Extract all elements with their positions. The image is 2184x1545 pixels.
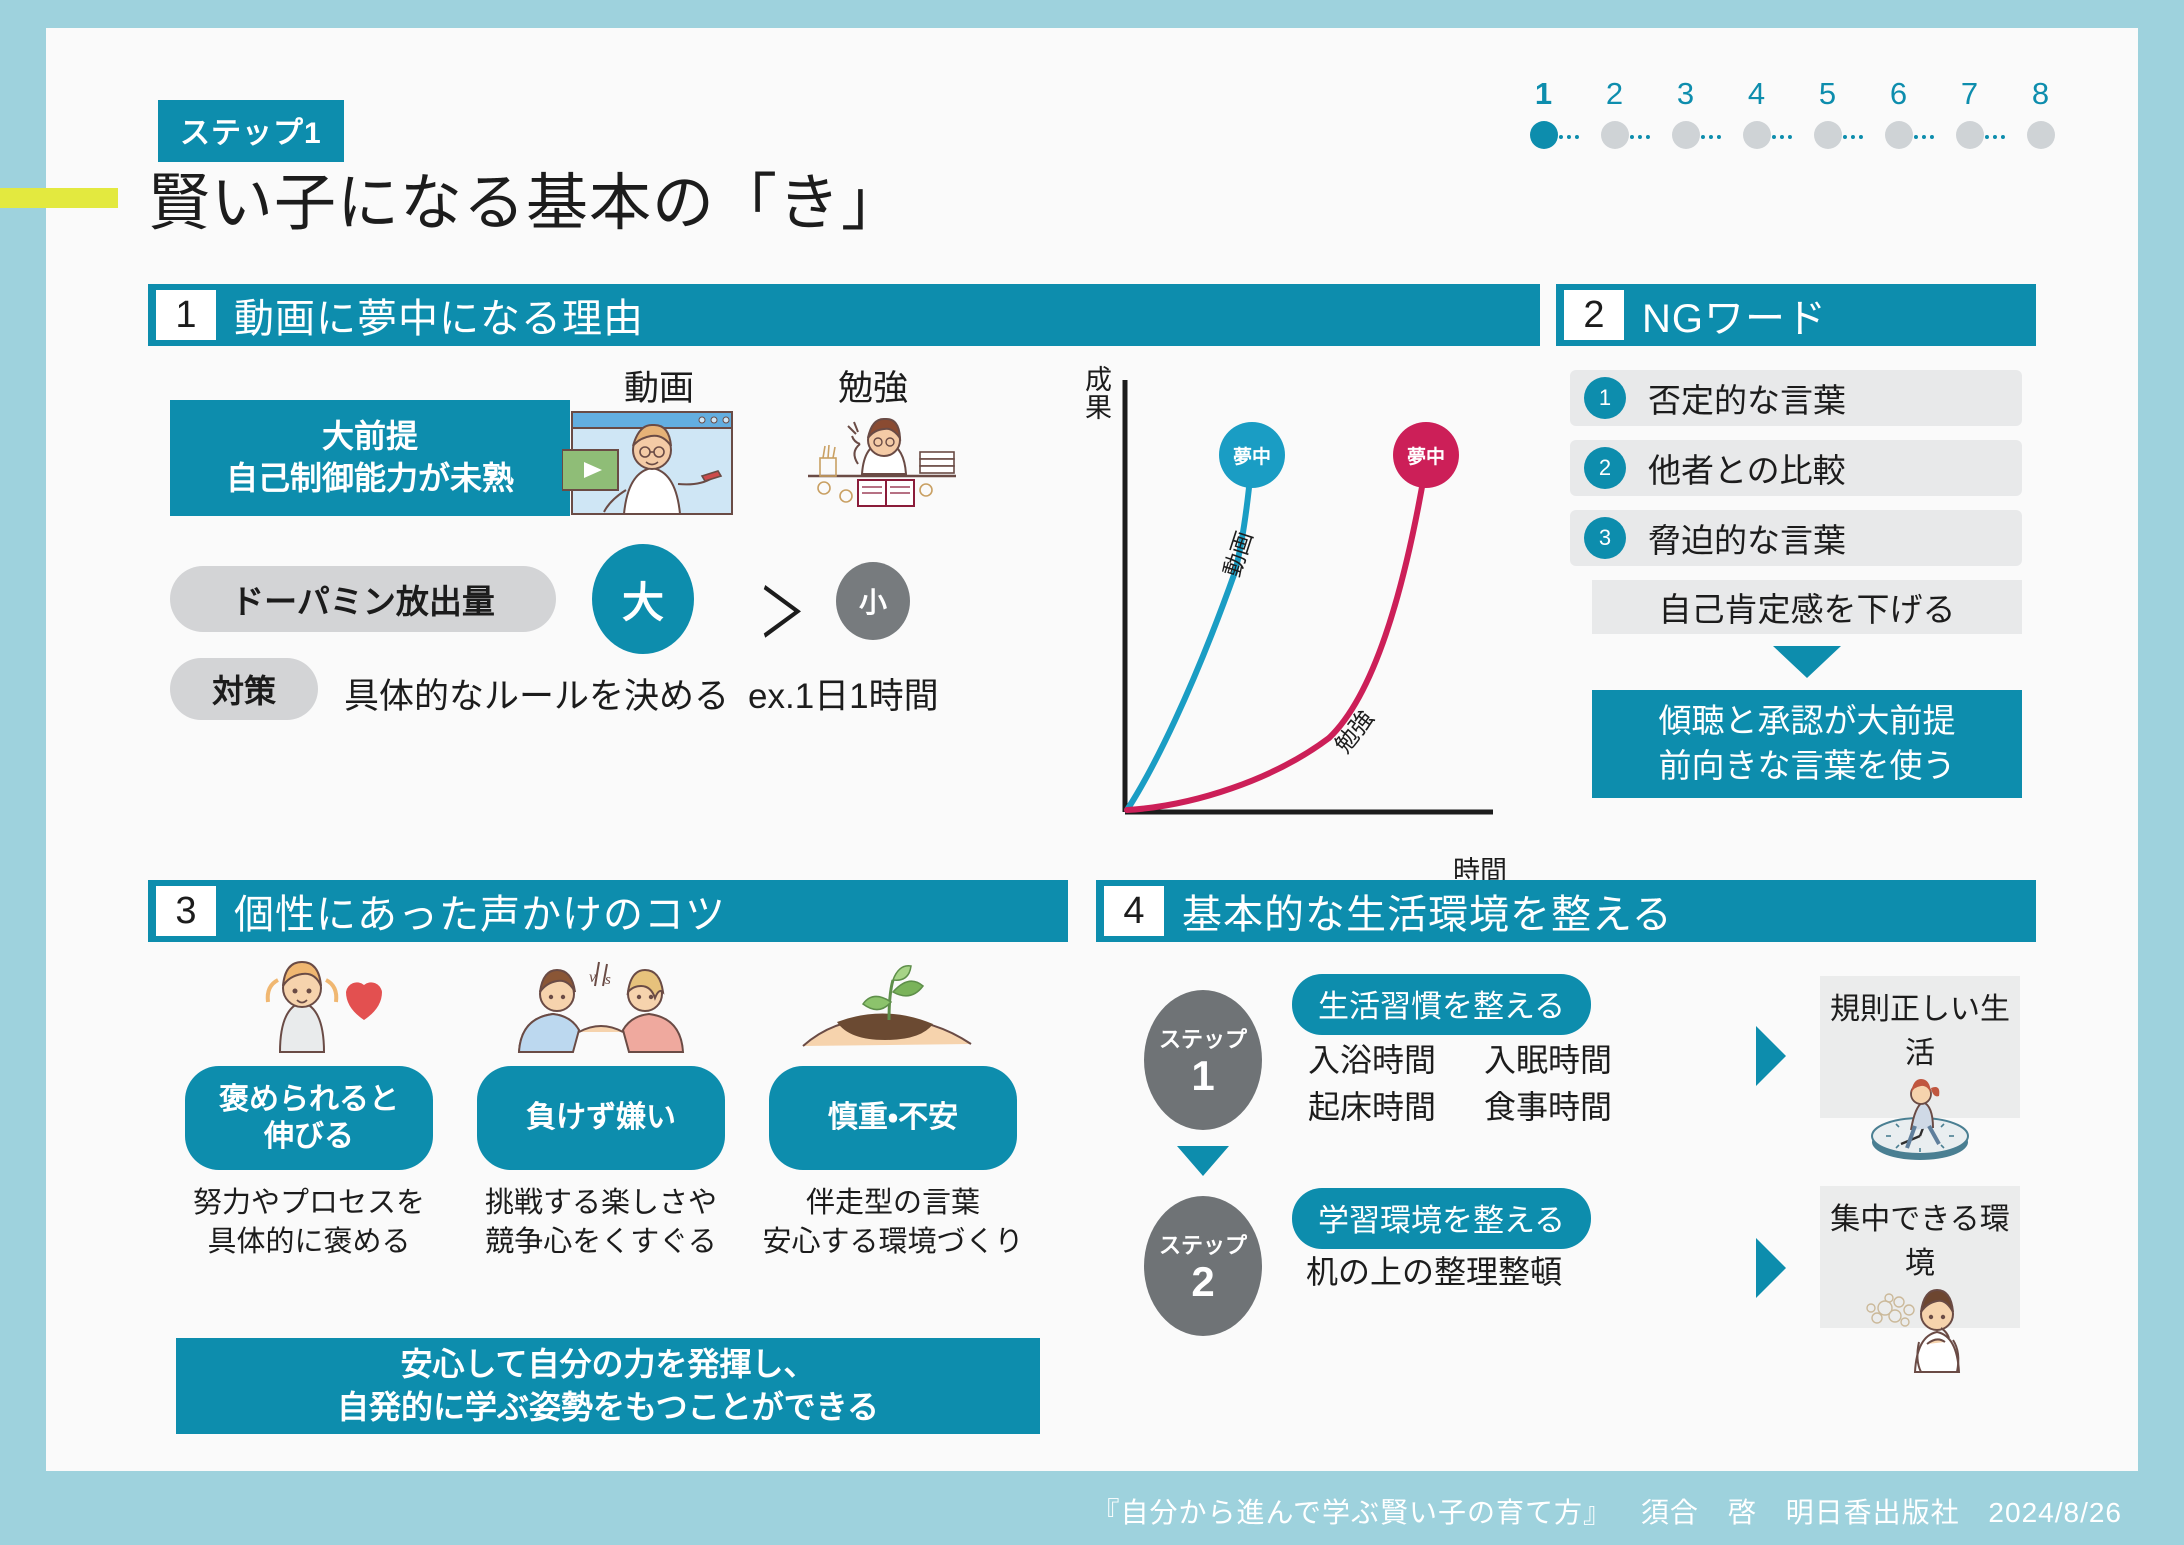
panel-4-living-environment: 4 基本的な生活環境を整える ステップ 1 生活習慣を整える 入浴時間 入眠時間…	[1096, 880, 2036, 1458]
trait-pill-line-1: 褒められると	[219, 1081, 399, 1119]
trait-card-praise: 褒められると 伸びる 努力やプロセスを 具体的に褒める	[174, 956, 444, 1262]
media-label-video: 動画	[624, 360, 694, 411]
panel-3-summary-box: 安心して自分の力を発揮し、 自発的に学ぶ姿勢をもつことができる	[176, 1338, 1040, 1434]
right-arrow-icon-2	[1756, 1238, 1786, 1298]
dopamine-study-amount: 小	[836, 562, 910, 640]
trait-card-cautious: 慎重・不安 伴走型の言葉 安心する環境づくり	[758, 956, 1028, 1262]
step-oval-number: 1	[1191, 1054, 1214, 1098]
dopamine-label-pill: ドーパミン放出量	[170, 566, 556, 632]
trait-card-competitive: v s 負けず嫌い 挑戦する楽しさや 競争心をくすぐる	[466, 956, 736, 1262]
step-2-pill: 学習環境を整える	[1292, 1188, 1591, 1249]
step-oval-word: ステップ	[1159, 1022, 1247, 1054]
clock-person-icon	[1820, 1074, 2020, 1166]
step-1-item-4: 食事時間	[1484, 1085, 1658, 1130]
dopamine-video-amount: 大	[592, 544, 694, 654]
countermeasure-example: ex.1日1時間	[748, 668, 939, 719]
countermeasure-text: 具体的なルールを決める	[344, 668, 729, 719]
stepper-dot[interactable]	[1885, 121, 1913, 149]
panel-1-header: 1 動画に夢中になる理由	[148, 284, 1540, 346]
ng-word-number: 1	[1584, 377, 1626, 419]
panel-4-header: 4 基本的な生活環境を整える	[1096, 880, 2036, 942]
ng-word-row-3: 3 脅迫的な言葉	[1570, 510, 2022, 566]
video-watching-illustration	[562, 408, 742, 523]
step-2-item-1: 机の上の整理整頓	[1306, 1250, 1562, 1295]
step-1-item-1: 入浴時間	[1308, 1038, 1482, 1083]
step-2-items: 机の上の整理整頓	[1306, 1250, 1562, 1295]
footer-publisher: 明日香出版社	[1786, 1497, 1960, 1528]
trait-desc-line-1: 努力やプロセスを	[174, 1184, 444, 1223]
step-oval-word: ステップ	[1159, 1228, 1247, 1260]
stepper-dot[interactable]	[1814, 121, 1842, 149]
panel-2-title: NGワード	[1624, 284, 1827, 346]
ng-word-row-1: 1 否定的な言葉	[1570, 370, 2022, 426]
flow-down-arrow-icon	[1177, 1146, 1229, 1176]
result-card-1: 規則正しい生活	[1820, 976, 2020, 1118]
stepper-number: 5	[1819, 78, 1836, 109]
down-arrow-icon	[1773, 646, 1841, 678]
trait-pill-praise: 褒められると 伸びる	[185, 1066, 433, 1170]
panel-1-body: 大前提 自己制御能力が未熟 ドーパミン放出量 大 ＞ 小 対策 具体的なルールを…	[148, 346, 1540, 906]
chart-y-axis-label: 成果	[1085, 366, 1119, 423]
trait-pill-line-2: 伸びる	[264, 1118, 354, 1156]
trait-desc-line-2: 具体的に褒める	[174, 1223, 444, 1262]
panel-3-body: 褒められると 伸びる 努力やプロセスを 具体的に褒める	[148, 942, 1068, 1458]
trait-desc-cautious: 伴走型の言葉 安心する環境づくり	[758, 1184, 1028, 1262]
footer-credits: 『自分から進んで学ぶ賢い子の育て方』 須合 啓 明日香出版社 2024/8/26	[1071, 1491, 2122, 1531]
panel-4-number: 4	[1104, 886, 1164, 936]
ng-conclusion-line-1: 傾聴と承認が大前提	[1659, 699, 1956, 744]
stepper-number: 6	[1890, 78, 1907, 109]
step-1-item-2: 入眠時間	[1484, 1038, 1658, 1083]
footer-author: 須合 啓	[1641, 1497, 1757, 1528]
panel-2-header: 2 NGワード	[1556, 284, 2036, 346]
trait-pill-line-1: 慎重・不安	[828, 1099, 958, 1137]
step-1-pill: 生活習慣を整える	[1292, 974, 1591, 1035]
stepper-number: 1	[1535, 78, 1552, 109]
trait-desc-praise: 努力やプロセスを 具体的に褒める	[174, 1184, 444, 1262]
ng-conclusion-box: 傾聴と承認が大前提 前向きな言葉を使う	[1592, 690, 2022, 798]
countermeasure-label-pill: 対策	[170, 658, 318, 720]
stepper-dot[interactable]	[1601, 121, 1629, 149]
sprout-hands-icon	[758, 956, 1028, 1054]
ng-word-number: 2	[1584, 447, 1626, 489]
ng-word-row-2: 2 他者との比較	[1570, 440, 2022, 496]
stepper-number: 7	[1961, 78, 1978, 109]
step-1-item-3: 起床時間	[1308, 1085, 1482, 1130]
step-progress-indicator[interactable]: 1 2 3 4 5 6 7	[1508, 78, 2076, 149]
media-label-study: 勉強	[838, 360, 908, 411]
premise-box: 大前提 自己制御能力が未熟	[170, 400, 570, 516]
stepper-step-8[interactable]: 8	[2005, 78, 2076, 149]
slide-root: ステップ1 賢い子になる基本の「き」 1 2 3 4 5	[0, 0, 2184, 1545]
accent-tab	[0, 188, 118, 208]
panel-3-title: 個性にあった声かけのコツ	[216, 880, 726, 942]
praise-heart-icon	[174, 956, 444, 1054]
panel-3-header: 3 個性にあった声かけのコツ	[148, 880, 1068, 942]
stepper-number: 3	[1677, 78, 1694, 109]
premise-line-1: 大前提	[322, 416, 418, 458]
trait-desc-competitive: 挑戦する楽しさや 競争心をくすぐる	[466, 1184, 736, 1262]
panel-4-body: ステップ 1 生活習慣を整える 入浴時間 入眠時間 起床時間 食事時間	[1096, 942, 2036, 1458]
stepper-dot[interactable]	[1956, 121, 1984, 149]
stepper-dot[interactable]	[1743, 121, 1771, 149]
focused-person-icon	[1820, 1282, 2020, 1374]
panel-2-ng-words: 2 NGワード 1 否定的な言葉 2 他者との比較 3 脅迫的な言葉 自己肯定感…	[1556, 284, 2036, 906]
footer-date: 2024/8/26	[1988, 1497, 2122, 1528]
stepper-dot[interactable]	[1530, 121, 1558, 149]
ng-word-label: 他者との比較	[1648, 444, 1846, 492]
chart-endpoint-bubble-video: 夢中	[1219, 422, 1285, 488]
step-1-items: 入浴時間 入眠時間 起床時間 食事時間	[1306, 1036, 1660, 1132]
trait-desc-line-1: 挑戦する楽しさや	[466, 1184, 736, 1223]
right-arrow-icon-1	[1756, 1026, 1786, 1086]
greater-than-icon: ＞	[758, 558, 806, 657]
result-card-2: 集中できる環境	[1820, 1186, 2020, 1328]
trait-desc-line-1: 伴走型の言葉	[758, 1184, 1028, 1223]
panel-1-number: 1	[156, 290, 216, 340]
stepper-number: 4	[1748, 78, 1765, 109]
trait-pill-line-1: 負けず嫌い	[526, 1099, 676, 1137]
trait-desc-line-2: 競争心をくすぐる	[466, 1223, 736, 1262]
engagement-chart: 成果 時間 夢中 夢中 動画 勉強	[1083, 360, 1513, 890]
footer-book-title: 『自分から進んで学ぶ賢い子の育て方』	[1091, 1497, 1612, 1528]
panel-2-number: 2	[1564, 290, 1624, 340]
trait-pill-cautious: 慎重・不安	[769, 1066, 1017, 1170]
page-title: 賢い子になる基本の「き」	[148, 152, 904, 242]
stepper-dot[interactable]	[2027, 121, 2055, 149]
ng-effect-box: 自己肯定感を下げる	[1592, 580, 2022, 634]
ng-word-label: 否定的な言葉	[1648, 374, 1846, 422]
summary-line-2: 自発的に学ぶ姿勢をもつことができる	[337, 1386, 879, 1429]
panel-1-video-addiction: 1 動画に夢中になる理由 大前提 自己制御能力が未熟 ドーパミン放出量 大 ＞ …	[148, 284, 1540, 906]
panel-2-body: 1 否定的な言葉 2 他者との比較 3 脅迫的な言葉 自己肯定感を下げる 傾聴と…	[1556, 346, 2036, 906]
panel-3-personality-tips: 3 個性にあった声かけのコツ	[148, 880, 1068, 1458]
result-title-1: 規則正しい生活	[1820, 976, 2020, 1072]
premise-line-2: 自己制御能力が未熟	[226, 458, 514, 500]
panel-4-title: 基本的な生活環境を整える	[1164, 880, 1673, 942]
ng-word-number: 3	[1584, 517, 1626, 559]
panel-1-title: 動画に夢中になる理由	[216, 284, 644, 346]
stepper-dot[interactable]	[1672, 121, 1700, 149]
step-oval-2: ステップ 2	[1144, 1196, 1262, 1336]
stepper-number: 8	[2032, 78, 2049, 109]
result-title-2: 集中できる環境	[1820, 1186, 2020, 1282]
step-oval-1: ステップ 1	[1144, 990, 1262, 1130]
stepper-number: 2	[1606, 78, 1623, 109]
summary-line-1: 安心して自分の力を発揮し、	[400, 1343, 815, 1386]
chart-endpoint-bubble-study: 夢中	[1393, 422, 1459, 488]
panel-3-number: 3	[156, 886, 216, 936]
ng-word-label: 脅迫的な言葉	[1648, 514, 1846, 562]
studying-illustration	[802, 412, 962, 521]
trait-pill-competitive: 負けず嫌い	[477, 1066, 725, 1170]
arm-wrestling-icon: v s	[466, 956, 736, 1054]
trait-desc-line-2: 安心する環境づくり	[758, 1223, 1028, 1262]
step-oval-number: 2	[1191, 1260, 1214, 1304]
ng-conclusion-line-2: 前向きな言葉を使う	[1659, 744, 1956, 789]
